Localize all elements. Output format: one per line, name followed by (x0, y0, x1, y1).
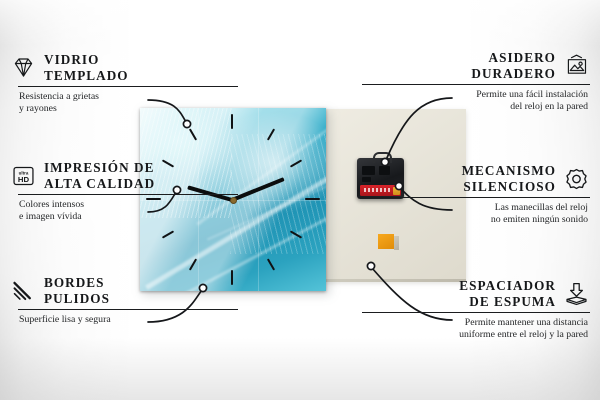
background-bottom-shade (0, 338, 600, 400)
clock-tick-3 (305, 198, 320, 200)
gear-icon (563, 167, 590, 191)
movement-hanger-hook (373, 152, 392, 163)
foam-spacer-shadow (394, 236, 399, 250)
feature-divider (18, 194, 238, 195)
feature-title: BORDES PULIDOS (44, 275, 110, 306)
polished-edge-icon (10, 279, 37, 303)
diamond-icon (10, 56, 37, 80)
background-top-glow (0, 0, 600, 46)
feature-title-line1: ASIDERO (489, 50, 556, 66)
feature-heading: MECANISMO SILENCIOSO (362, 163, 590, 194)
foam-spacer (378, 234, 394, 249)
feature-description: Las manecillas del reloj no emiten ningú… (362, 202, 588, 225)
feature-bordes-pulidos: BORDES PULIDOS Superficie lisa y segura (10, 275, 238, 326)
picture-hanger-icon (563, 54, 590, 78)
feature-divider (362, 197, 590, 198)
feature-title-line2: ALTA CALIDAD (44, 176, 155, 192)
feature-description: Colores intensos e imagen vívida (19, 199, 238, 222)
feature-title: ESPACIADOR DE ESPUMA (459, 278, 556, 309)
feature-impresion-alta-calidad: ultra HD IMPRESIÓN DE ALTA CALIDAD Color… (10, 160, 238, 223)
feature-heading: ultra HD IMPRESIÓN DE ALTA CALIDAD (10, 160, 238, 191)
feature-title-line1: MECANISMO (462, 163, 556, 179)
feature-description: Permite una fácil instalación del reloj … (362, 89, 588, 112)
infographic-canvas: VIDRIO TEMPLADO Resistencia a grietas y … (0, 0, 600, 400)
svg-text:HD: HD (18, 174, 30, 183)
feature-description: Permite mantener una distancia uniforme … (362, 317, 588, 340)
feature-title: IMPRESIÓN DE ALTA CALIDAD (44, 160, 155, 191)
feature-asidero-duradero: ASIDERO DURADERO Permite una fácil insta… (362, 50, 590, 113)
feature-title-line2: DE ESPUMA (469, 294, 556, 310)
feature-vidrio-templado: VIDRIO TEMPLADO Resistencia a grietas y … (10, 52, 238, 115)
feature-divider (362, 312, 590, 313)
feature-title-line2: SILENCIOSO (463, 179, 556, 195)
feature-espaciador-de-espuma: ESPACIADOR DE ESPUMA Permite mantener un… (362, 278, 590, 341)
feature-divider (18, 309, 238, 310)
feature-heading: ESPACIADOR DE ESPUMA (362, 278, 590, 309)
feature-title-line2: PULIDOS (44, 291, 110, 307)
feature-title-line1: ESPACIADOR (459, 278, 556, 294)
clock-tick-12 (231, 114, 233, 129)
press-down-icon (563, 282, 590, 306)
feature-mecanismo-silencioso: MECANISMO SILENCIOSO Las manecillas del … (362, 163, 590, 226)
feature-heading: BORDES PULIDOS (10, 275, 238, 306)
feature-title: MECANISMO SILENCIOSO (462, 163, 556, 194)
feature-divider (18, 86, 238, 87)
feature-title-line1: IMPRESIÓN DE (44, 160, 155, 176)
feature-title-line1: BORDES (44, 275, 110, 291)
feature-title: VIDRIO TEMPLADO (44, 52, 129, 83)
feature-title-line2: TEMPLADO (44, 68, 129, 84)
feature-title-line1: VIDRIO (44, 52, 129, 68)
feature-heading: ASIDERO DURADERO (362, 50, 590, 81)
feature-description: Superficie lisa y segura (19, 314, 238, 326)
feature-title-line2: DURADERO (471, 66, 556, 82)
feature-heading: VIDRIO TEMPLADO (10, 52, 238, 83)
feature-description: Resistencia a grietas y rayones (19, 91, 238, 114)
ultra-hd-icon: ultra HD (10, 164, 37, 188)
feature-divider (362, 84, 590, 85)
feature-title: ASIDERO DURADERO (471, 50, 556, 81)
